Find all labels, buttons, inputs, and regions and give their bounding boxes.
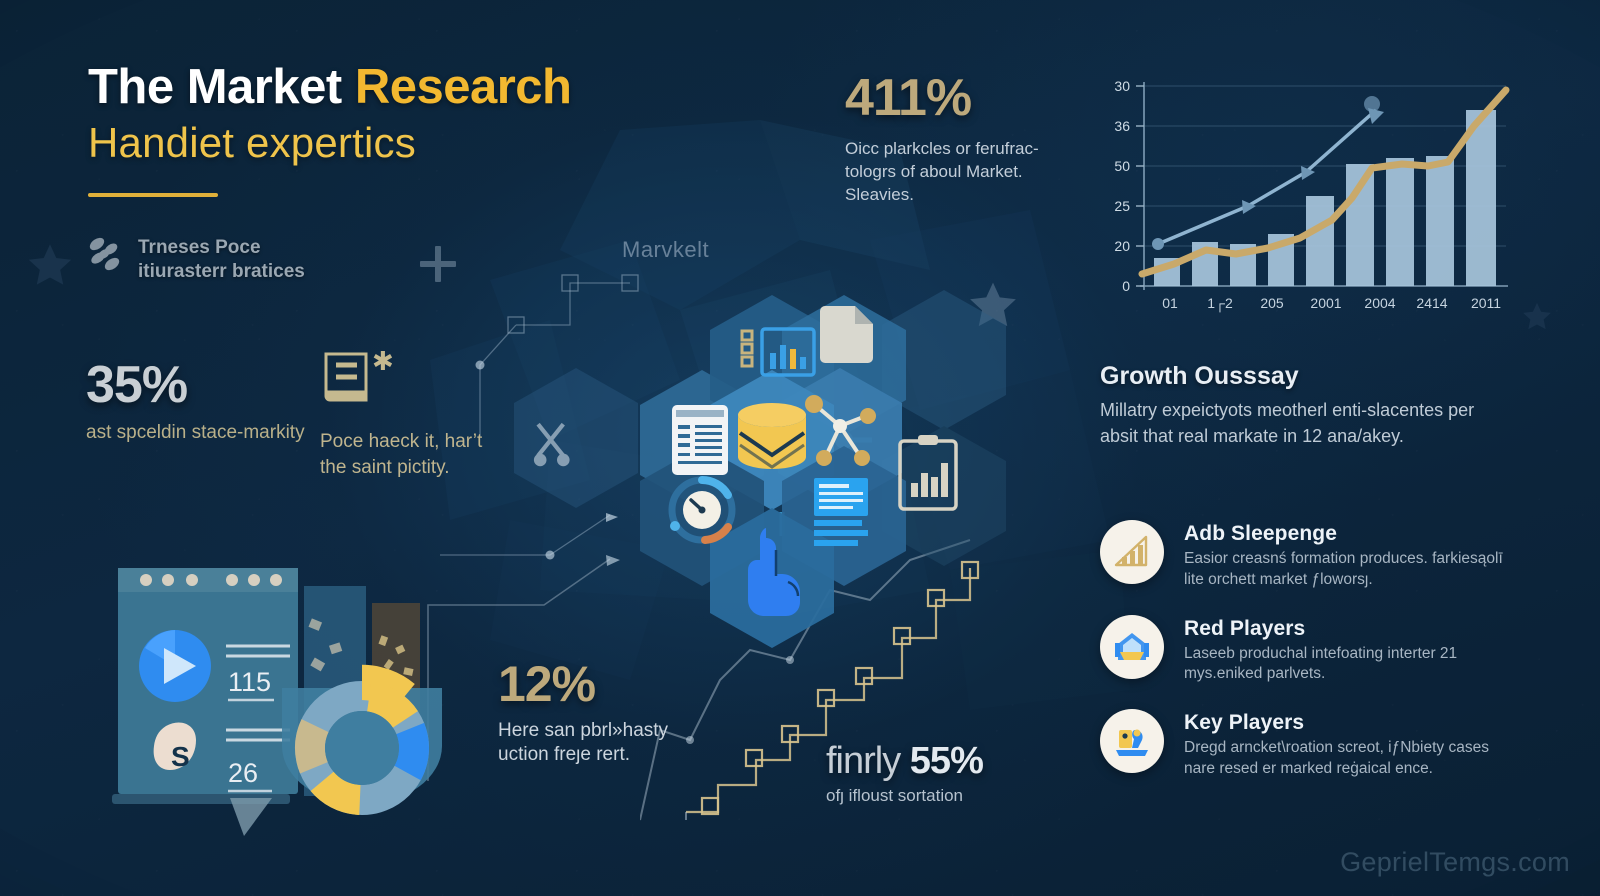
- svg-text:0: 0: [1122, 278, 1130, 294]
- feature-icon-circle: [1100, 709, 1164, 773]
- svg-text:36: 36: [1114, 118, 1130, 134]
- metric-value-1: 115: [228, 667, 271, 697]
- feature-item-adb-sleepenge[interactable]: Adb Sleepenge Easior creasnś formation p…: [1100, 520, 1520, 591]
- chart-x-labels: 01 1┌2 205 2001 2004 2414 2011: [1162, 295, 1501, 313]
- svg-text:2414: 2414: [1416, 295, 1447, 311]
- svg-text:2001: 2001: [1310, 295, 1341, 311]
- tagline-block: Trneses Poce itiurasterr bratices: [88, 236, 305, 285]
- feature-title: Adb Sleepenge: [1184, 522, 1520, 546]
- hex-icon-cluster: [500, 250, 1060, 650]
- page-header: The Market Research Handiet expertics: [88, 62, 768, 197]
- svg-text:30: 30: [1114, 78, 1130, 94]
- feature-item-red-players[interactable]: Red Players Laseeb produchal intefoating…: [1100, 615, 1520, 686]
- plus-icon: [420, 246, 456, 282]
- stat-caption: ast spceldin stace-markity: [86, 421, 326, 445]
- feature-desc: Dregd arncket\roation screot, iƒNbiety c…: [1184, 738, 1520, 780]
- svg-text:2004: 2004: [1364, 295, 1395, 311]
- tagline-line-2: itiurasterr bratices: [138, 260, 305, 284]
- stat-value: 12%: [498, 655, 708, 713]
- chart-svg: 30 36 50 25 20 0: [1096, 68, 1516, 323]
- stat-block-12: 12% Here san pbrl»hasty uction freȷe rer…: [498, 655, 708, 768]
- metric-value-2: 26: [228, 758, 258, 788]
- note-block: ✱ Poce haeck it, har’t the saint pictity…: [320, 348, 500, 481]
- s-badge-letter: S: [171, 741, 190, 772]
- feature-title: Key Players: [1184, 711, 1520, 735]
- stat-value: finrly 55%: [826, 740, 1076, 783]
- home-scale-icon: [1113, 630, 1151, 664]
- chart-blue-projection-line: [1158, 110, 1376, 244]
- svg-text:205: 205: [1260, 295, 1284, 311]
- feature-text: Key Players Dregd arncket\roation screot…: [1184, 709, 1520, 780]
- corner-fold: [230, 798, 272, 836]
- feature-icon-circle: [1100, 615, 1164, 679]
- note-caption: Poce haeck it, har’t the saint pictity.: [320, 429, 500, 481]
- title-accent: Research: [355, 60, 572, 114]
- page-title: The Market Research: [88, 62, 768, 114]
- page-subtitle: Handiet expertics: [88, 118, 768, 168]
- growth-chart: 30 36 50 25 20 0: [1096, 68, 1516, 323]
- svg-text:01: 01: [1162, 295, 1178, 311]
- feature-list: Adb Sleepenge Easior creasnś formation p…: [1100, 520, 1520, 804]
- tagline-line-1: Trneses Poce: [138, 236, 305, 260]
- feature-text: Adb Sleepenge Easior creasnś formation p…: [1184, 520, 1520, 591]
- stat-caption: ofȷ ifloust sortation: [826, 785, 1076, 807]
- star-decoration-icon: [24, 240, 76, 292]
- watermark: GeprielTemgs.com: [1340, 847, 1570, 878]
- growth-heading: Growth Ousssay: [1100, 362, 1299, 391]
- stat-number: 55%: [910, 740, 983, 782]
- svg-text:20: 20: [1114, 238, 1130, 254]
- document-stack-icon: [814, 478, 868, 546]
- presenter-icon: [1113, 724, 1151, 758]
- database-icon: [738, 403, 806, 469]
- svg-text:25: 25: [1114, 198, 1130, 214]
- title-divider: [88, 193, 218, 197]
- stat-caption: Here san pbrl»hasty uction freȷe rert.: [498, 719, 708, 768]
- feature-title: Red Players: [1184, 617, 1520, 641]
- svg-text:50: 50: [1114, 158, 1130, 174]
- stat-lead: finrly: [826, 740, 910, 782]
- stat-block-35: 35% ast spceldin stace-markity: [86, 355, 326, 445]
- stat-block-55: finrly 55% ofȷ ifloust sortation: [826, 740, 1076, 807]
- growth-chart-icon: [1114, 535, 1150, 569]
- tagline-text: Trneses Poce itiurasterr bratices: [138, 236, 305, 285]
- stat-value: 411%: [845, 68, 1075, 128]
- growth-body: Millatry expeictyots meotherl enti-slace…: [1100, 398, 1512, 449]
- feature-desc: Laseeb produchal intefoating interter 21…: [1184, 644, 1520, 686]
- feature-icon-circle: [1100, 520, 1164, 584]
- svg-text:1┌2: 1┌2: [1207, 295, 1233, 313]
- feature-desc: Easior creasnś formation produces. farki…: [1184, 549, 1520, 591]
- document-list-icon: [672, 405, 728, 475]
- feature-item-key-players[interactable]: Key Players Dregd arncket\roation screot…: [1100, 709, 1520, 780]
- title-plain: The Market: [88, 60, 355, 114]
- dashboard-mockup: 115 S 26: [104, 548, 444, 838]
- scatter-dots-icon: [88, 236, 122, 274]
- svg-text:2011: 2011: [1471, 295, 1501, 311]
- stat-value: 35%: [86, 355, 326, 415]
- chart-ticks: [1136, 86, 1144, 286]
- stat-caption: Oicc plarkcles or ferufrac- tologrs of a…: [845, 138, 1075, 207]
- svg-text:✱: ✱: [372, 348, 392, 376]
- chart-bars: [1154, 110, 1496, 286]
- stat-block-41: 411% Oicc plarkcles or ferufrac- tologrs…: [845, 68, 1075, 207]
- book-note-icon: ✱: [320, 348, 392, 410]
- feature-text: Red Players Laseeb produchal intefoating…: [1184, 615, 1520, 686]
- right-panel: 30 36 50 25 20 0: [1096, 0, 1536, 896]
- chart-y-labels: 30 36 50 25 20 0: [1114, 78, 1130, 294]
